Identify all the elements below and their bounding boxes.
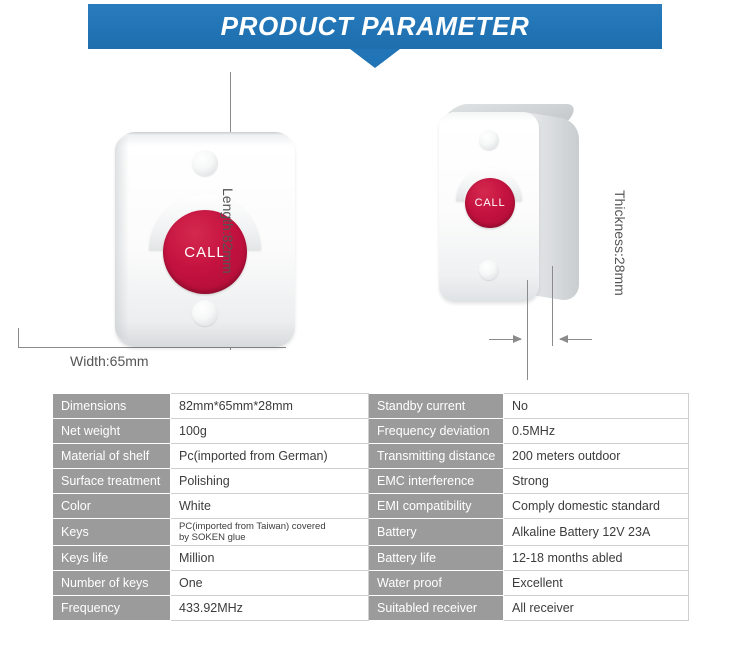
table-row: Surface treatment Polishing EMC interfer… bbox=[53, 469, 689, 494]
device-front-face: CALL bbox=[439, 112, 539, 302]
spec-value: 433.92MHz bbox=[171, 596, 369, 621]
spec-key: Material of shelf bbox=[53, 444, 171, 469]
page-header: PRODUCT PARAMETER bbox=[0, 0, 750, 70]
spec-key: Suitabled receiver bbox=[369, 596, 504, 621]
spec-value: Million bbox=[171, 546, 369, 571]
spec-key: Surface treatment bbox=[53, 469, 171, 494]
spec-key: EMC interference bbox=[369, 469, 504, 494]
spec-value: PC(imported from Taiwan) covered by SOKE… bbox=[171, 519, 369, 546]
spec-key: Keys bbox=[53, 519, 171, 546]
call-button-front-view: CALL bbox=[115, 132, 295, 347]
thickness-leader-line-front bbox=[527, 280, 528, 380]
table-row: Color White EMI compatibility Comply dom… bbox=[53, 494, 689, 519]
product-figures: CALL Width:65mm Length:82mm CALL Thickne… bbox=[0, 70, 750, 380]
thickness-dimension-label: Thickness:28mm bbox=[612, 190, 628, 296]
call-button-perspective-view: CALL bbox=[435, 100, 595, 310]
specification-table: Dimensions 82mm*65mm*28mm Standby curren… bbox=[52, 393, 689, 621]
spec-key: Battery bbox=[369, 519, 504, 546]
length-dimension-label: Length:82mm bbox=[220, 188, 236, 274]
spec-key: Number of keys bbox=[53, 571, 171, 596]
table-row: Frequency 433.92MHz Suitabled receiver A… bbox=[53, 596, 689, 621]
table-row: Net weight 100g Frequency deviation 0.5M… bbox=[53, 419, 689, 444]
spec-key: Keys life bbox=[53, 546, 171, 571]
banner-notch-triangle bbox=[350, 49, 400, 68]
table-row: Material of shelf Pc(imported from Germa… bbox=[53, 444, 689, 469]
spec-key: Battery life bbox=[369, 546, 504, 571]
spec-value: Polishing bbox=[171, 469, 369, 494]
width-dimension-line bbox=[18, 347, 286, 348]
spec-value-line1: PC(imported from Taiwan) covered bbox=[179, 521, 368, 532]
page-title: PRODUCT PARAMETER bbox=[88, 4, 662, 49]
screw-boss-top-icon bbox=[192, 150, 218, 176]
spec-value: 82mm*65mm*28mm bbox=[171, 394, 369, 419]
spec-key: Dimensions bbox=[53, 394, 171, 419]
spec-value: 200 meters outdoor bbox=[504, 444, 689, 469]
banner-bar: PRODUCT PARAMETER bbox=[88, 4, 662, 49]
spec-key: Net weight bbox=[53, 419, 171, 444]
call-button-perspective: CALL bbox=[465, 178, 515, 228]
spec-key: Frequency bbox=[53, 596, 171, 621]
spec-key: EMI compatibility bbox=[369, 494, 504, 519]
spec-value: 100g bbox=[171, 419, 369, 444]
spec-value: Comply domestic standard bbox=[504, 494, 689, 519]
spec-value: Pc(imported from German) bbox=[171, 444, 369, 469]
spec-value: One bbox=[171, 571, 369, 596]
spec-key: Color bbox=[53, 494, 171, 519]
table-row: Keys PC(imported from Taiwan) covered by… bbox=[53, 519, 689, 546]
spec-value: No bbox=[504, 394, 689, 419]
spec-key: Transmitting distance bbox=[369, 444, 504, 469]
table-row: Keys life Million Battery life 12-18 mon… bbox=[53, 546, 689, 571]
screw-boss-bottom-icon bbox=[192, 300, 218, 326]
thickness-leader-line-back bbox=[552, 266, 553, 346]
spec-key: Water proof bbox=[369, 571, 504, 596]
call-button-label: CALL bbox=[475, 197, 506, 209]
spec-value: 12-18 months abled bbox=[504, 546, 689, 571]
spec-value: 0.5MHz bbox=[504, 419, 689, 444]
spec-key: Standby current bbox=[369, 394, 504, 419]
spec-value: Excellent bbox=[504, 571, 689, 596]
spec-value-line2: by SOKEN glue bbox=[179, 532, 368, 543]
width-dimension-label: Width:65mm bbox=[70, 353, 149, 369]
spec-value: White bbox=[171, 494, 369, 519]
screw-boss-bottom-icon bbox=[479, 260, 499, 280]
spec-value: Alkaline Battery 12V 23A bbox=[504, 519, 689, 546]
spec-value: Strong bbox=[504, 469, 689, 494]
specification-table-body: Dimensions 82mm*65mm*28mm Standby curren… bbox=[53, 394, 689, 621]
spec-value: All receiver bbox=[504, 596, 689, 621]
spec-key: Frequency deviation bbox=[369, 419, 504, 444]
width-dimension-tick bbox=[18, 328, 19, 348]
screw-boss-top-icon bbox=[479, 130, 499, 150]
table-row: Number of keys One Water proof Excellent bbox=[53, 571, 689, 596]
table-row: Dimensions 82mm*65mm*28mm Standby curren… bbox=[53, 394, 689, 419]
